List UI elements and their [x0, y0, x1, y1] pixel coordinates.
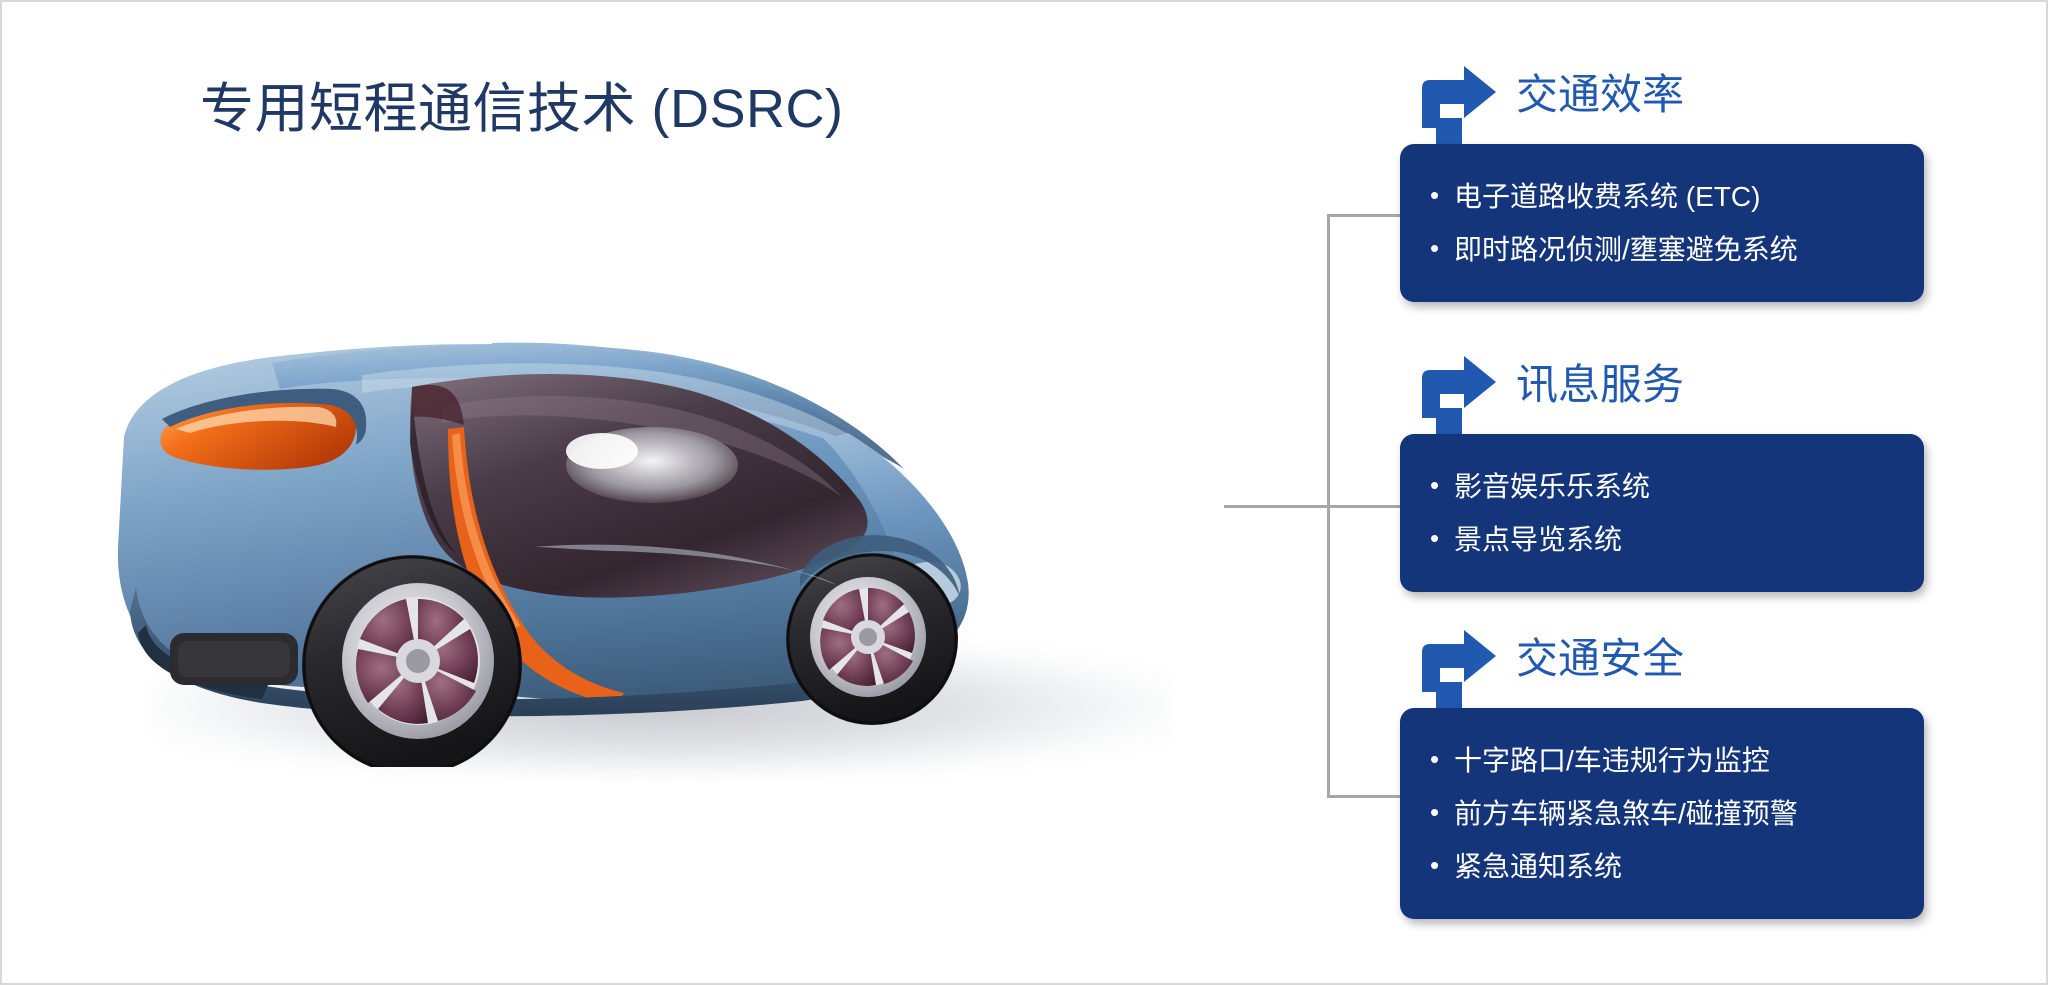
slide-canvas: 专用短程通信技术 (DSRC)	[0, 0, 2048, 985]
page-title: 专用短程通信技术 (DSRC)	[200, 64, 843, 143]
list-item: • 前方车辆紧急煞车/碰撞预警	[1430, 787, 1902, 840]
connector-branch-2	[1327, 505, 1403, 508]
bullet-icon: •	[1430, 796, 1454, 830]
list-item: • 影音娱乐乐系统	[1430, 460, 1902, 513]
group-header-2: 讯息服务	[1400, 350, 1684, 424]
group-header-3: 交通安全	[1400, 624, 1684, 698]
connector-trunk	[1224, 505, 1329, 508]
list-item: • 电子道路收费系统 (ETC)	[1430, 170, 1902, 223]
concept-car-svg	[112, 247, 1232, 767]
turn-right-arrow-icon	[1418, 66, 1498, 128]
list-item-label: 影音娱乐乐系统	[1454, 469, 1650, 504]
rear-wheel	[302, 555, 522, 767]
list-item: • 十字路口/车违规行为监控	[1430, 734, 1902, 787]
bullet-icon: •	[1430, 232, 1454, 266]
bullet-icon: •	[1430, 743, 1454, 777]
concept-car-illustration	[112, 247, 1232, 767]
turn-right-arrow-icon	[1418, 356, 1498, 418]
group-heading-label: 交通效率	[1516, 74, 1684, 120]
turn-right-arrow-icon	[1418, 630, 1498, 692]
group-header-1: 交通效率	[1400, 60, 1684, 134]
bullet-icon: •	[1430, 469, 1454, 503]
list-item-label: 十字路口/车违规行为监控	[1454, 743, 1770, 778]
bullet-icon: •	[1430, 849, 1454, 883]
group-content-box-2: • 影音娱乐乐系统 • 景点导览系统	[1400, 434, 1924, 592]
connector-branch-3	[1327, 795, 1403, 798]
list-item-label: 前方车辆紧急煞车/碰撞预警	[1454, 796, 1798, 831]
list-item-label: 紧急通知系统	[1454, 849, 1622, 884]
list-item-label: 电子道路收费系统 (ETC)	[1454, 179, 1760, 214]
group-heading-label: 讯息服务	[1516, 364, 1684, 410]
list-item: • 即时路况侦测/壅塞避免系统	[1430, 223, 1902, 276]
front-wheel	[786, 553, 958, 725]
bullet-icon: •	[1430, 179, 1454, 213]
group-content-box-3: • 十字路口/车违规行为监控 • 前方车辆紧急煞车/碰撞预警 • 紧急通知系统	[1400, 708, 1924, 919]
group-content-box-1: • 电子道路收费系统 (ETC) • 即时路况侦测/壅塞避免系统	[1400, 144, 1924, 302]
list-item-label: 即时路况侦测/壅塞避免系统	[1454, 232, 1798, 267]
connector-branch-1	[1327, 214, 1403, 217]
list-item: • 景点导览系统	[1430, 513, 1902, 566]
group-heading-label: 交通安全	[1516, 638, 1684, 684]
list-item: • 紧急通知系统	[1430, 840, 1902, 893]
bullet-icon: •	[1430, 522, 1454, 556]
list-item-label: 景点导览系统	[1454, 522, 1622, 557]
